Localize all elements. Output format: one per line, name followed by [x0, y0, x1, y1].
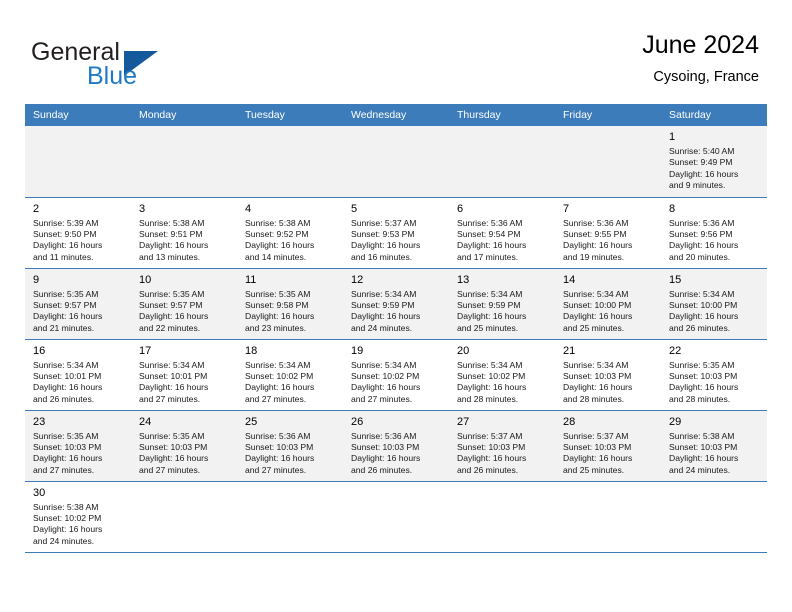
day-number: 21	[563, 344, 655, 358]
day-number: 25	[245, 415, 337, 429]
daylight-text-line2: and 27 minutes.	[351, 394, 443, 405]
day-number: 18	[245, 344, 337, 358]
calendar-header-row: Sunday Monday Tuesday Wednesday Thursday…	[25, 104, 767, 126]
sunset-text: Sunset: 10:03 PM	[245, 442, 337, 453]
day-cell-empty	[25, 126, 131, 197]
calendar-week-row: 23 Sunrise: 5:35 AM Sunset: 10:03 PM Day…	[25, 410, 767, 481]
daylight-text-line1: Daylight: 16 hours	[245, 382, 337, 393]
day-number: 7	[563, 202, 655, 216]
sunset-text: Sunset: 9:53 PM	[351, 229, 443, 240]
daylight-text-line2: and 26 minutes.	[669, 323, 761, 334]
daylight-text-line1: Daylight: 16 hours	[563, 453, 655, 464]
sunrise-text: Sunrise: 5:34 AM	[669, 289, 761, 300]
day-cell[interactable]: 21 Sunrise: 5:34 AM Sunset: 10:03 PM Day…	[555, 339, 661, 410]
sunrise-text: Sunrise: 5:40 AM	[669, 146, 761, 157]
sunrise-text: Sunrise: 5:34 AM	[457, 289, 549, 300]
daylight-text-line1: Daylight: 16 hours	[669, 240, 761, 251]
daylight-text-line1: Daylight: 16 hours	[457, 453, 549, 464]
day-number: 9	[33, 273, 125, 287]
calendar-grid: Sunday Monday Tuesday Wednesday Thursday…	[25, 104, 767, 553]
day-cell[interactable]: 6 Sunrise: 5:36 AM Sunset: 9:54 PM Dayli…	[449, 197, 555, 268]
sunrise-text: Sunrise: 5:34 AM	[139, 360, 231, 371]
daylight-text-line1: Daylight: 16 hours	[33, 382, 125, 393]
daylight-text-line1: Daylight: 16 hours	[669, 169, 761, 180]
sunset-text: Sunset: 9:56 PM	[669, 229, 761, 240]
daylight-text-line2: and 27 minutes.	[139, 465, 231, 476]
daylight-text-line1: Daylight: 16 hours	[457, 240, 549, 251]
day-number: 19	[351, 344, 443, 358]
daylight-text-line2: and 28 minutes.	[457, 394, 549, 405]
daylight-text-line1: Daylight: 16 hours	[669, 311, 761, 322]
daylight-text-line2: and 11 minutes.	[33, 252, 125, 263]
sunset-text: Sunset: 10:02 PM	[457, 371, 549, 382]
daylight-text-line2: and 16 minutes.	[351, 252, 443, 263]
daylight-text-line2: and 17 minutes.	[457, 252, 549, 263]
sunset-text: Sunset: 10:03 PM	[669, 371, 761, 382]
calendar-page: General Blue June 2024 Cysoing, France S…	[0, 0, 792, 612]
day-number: 11	[245, 273, 337, 287]
calendar-table: Sunday Monday Tuesday Wednesday Thursday…	[25, 104, 767, 553]
daylight-text-line2: and 22 minutes.	[139, 323, 231, 334]
day-number: 22	[669, 344, 761, 358]
daylight-text-line1: Daylight: 16 hours	[245, 240, 337, 251]
sunrise-text: Sunrise: 5:35 AM	[669, 360, 761, 371]
daylight-text-line2: and 21 minutes.	[33, 323, 125, 334]
daylight-text-line1: Daylight: 16 hours	[139, 453, 231, 464]
daylight-text-line1: Daylight: 16 hours	[351, 453, 443, 464]
title-block: June 2024 Cysoing, France	[642, 30, 759, 86]
sunrise-text: Sunrise: 5:36 AM	[351, 431, 443, 442]
daylight-text-line1: Daylight: 16 hours	[351, 311, 443, 322]
daylight-text-line2: and 26 minutes.	[33, 394, 125, 405]
day-cell[interactable]: 1 Sunrise: 5:40 AM Sunset: 9:49 PM Dayli…	[661, 126, 767, 197]
daylight-text-line1: Daylight: 16 hours	[33, 453, 125, 464]
weekday-header-monday: Monday	[131, 104, 237, 126]
day-cell-empty	[131, 481, 237, 552]
day-cell[interactable]: 12 Sunrise: 5:34 AM Sunset: 9:59 PM Dayl…	[343, 268, 449, 339]
day-number: 8	[669, 202, 761, 216]
weekday-header-thursday: Thursday	[449, 104, 555, 126]
daylight-text-line1: Daylight: 16 hours	[563, 311, 655, 322]
day-cell[interactable]: 10 Sunrise: 5:35 AM Sunset: 9:57 PM Dayl…	[131, 268, 237, 339]
weekday-header-saturday: Saturday	[661, 104, 767, 126]
weekday-header-sunday: Sunday	[25, 104, 131, 126]
daylight-text-line2: and 26 minutes.	[457, 465, 549, 476]
day-cell[interactable]: 8 Sunrise: 5:36 AM Sunset: 9:56 PM Dayli…	[661, 197, 767, 268]
day-cell-empty	[555, 126, 661, 197]
daylight-text-line1: Daylight: 16 hours	[33, 311, 125, 322]
sunset-text: Sunset: 9:49 PM	[669, 157, 761, 168]
sunrise-text: Sunrise: 5:36 AM	[669, 218, 761, 229]
day-cell[interactable]: 13 Sunrise: 5:34 AM Sunset: 9:59 PM Dayl…	[449, 268, 555, 339]
daylight-text-line1: Daylight: 16 hours	[669, 453, 761, 464]
day-number: 5	[351, 202, 443, 216]
calendar-body: 1 Sunrise: 5:40 AM Sunset: 9:49 PM Dayli…	[25, 126, 767, 552]
sunset-text: Sunset: 10:03 PM	[33, 442, 125, 453]
day-cell[interactable]: 3 Sunrise: 5:38 AM Sunset: 9:51 PM Dayli…	[131, 197, 237, 268]
sunrise-text: Sunrise: 5:37 AM	[351, 218, 443, 229]
calendar-week-row: 2 Sunrise: 5:39 AM Sunset: 9:50 PM Dayli…	[25, 197, 767, 268]
daylight-text-line2: and 23 minutes.	[245, 323, 337, 334]
day-cell[interactable]: 2 Sunrise: 5:39 AM Sunset: 9:50 PM Dayli…	[25, 197, 131, 268]
sunrise-text: Sunrise: 5:35 AM	[33, 431, 125, 442]
daylight-text-line1: Daylight: 16 hours	[245, 453, 337, 464]
sunset-text: Sunset: 10:03 PM	[563, 371, 655, 382]
calendar-week-row: 30 Sunrise: 5:38 AM Sunset: 10:02 PM Day…	[25, 481, 767, 552]
day-cell[interactable]: 26 Sunrise: 5:36 AM Sunset: 10:03 PM Day…	[343, 410, 449, 481]
daylight-text-line1: Daylight: 16 hours	[139, 240, 231, 251]
day-number: 30	[33, 486, 125, 500]
daylight-text-line2: and 19 minutes.	[563, 252, 655, 263]
day-cell[interactable]: 19 Sunrise: 5:34 AM Sunset: 10:02 PM Day…	[343, 339, 449, 410]
sunrise-text: Sunrise: 5:35 AM	[139, 431, 231, 442]
sunrise-text: Sunrise: 5:38 AM	[245, 218, 337, 229]
day-cell[interactable]: 23 Sunrise: 5:35 AM Sunset: 10:03 PM Day…	[25, 410, 131, 481]
day-number: 2	[33, 202, 125, 216]
daylight-text-line1: Daylight: 16 hours	[563, 382, 655, 393]
day-number: 29	[669, 415, 761, 429]
daylight-text-line2: and 27 minutes.	[245, 394, 337, 405]
daylight-text-line2: and 24 minutes.	[351, 323, 443, 334]
daylight-text-line2: and 24 minutes.	[33, 536, 125, 547]
sunrise-text: Sunrise: 5:34 AM	[245, 360, 337, 371]
day-cell[interactable]: 30 Sunrise: 5:38 AM Sunset: 10:02 PM Day…	[25, 481, 131, 552]
sunrise-text: Sunrise: 5:36 AM	[563, 218, 655, 229]
day-number: 28	[563, 415, 655, 429]
weekday-header-friday: Friday	[555, 104, 661, 126]
day-number: 10	[139, 273, 231, 287]
daylight-text-line2: and 28 minutes.	[563, 394, 655, 405]
sunset-text: Sunset: 9:59 PM	[351, 300, 443, 311]
sunset-text: Sunset: 9:51 PM	[139, 229, 231, 240]
sunrise-text: Sunrise: 5:36 AM	[457, 218, 549, 229]
sunset-text: Sunset: 10:03 PM	[139, 442, 231, 453]
sunset-text: Sunset: 10:03 PM	[351, 442, 443, 453]
day-cell-empty	[555, 481, 661, 552]
day-number: 27	[457, 415, 549, 429]
daylight-text-line1: Daylight: 16 hours	[245, 311, 337, 322]
calendar-week-row: 1 Sunrise: 5:40 AM Sunset: 9:49 PM Dayli…	[25, 126, 767, 197]
day-cell[interactable]: 25 Sunrise: 5:36 AM Sunset: 10:03 PM Day…	[237, 410, 343, 481]
sunrise-text: Sunrise: 5:35 AM	[33, 289, 125, 300]
sunrise-text: Sunrise: 5:36 AM	[245, 431, 337, 442]
daylight-text-line1: Daylight: 16 hours	[351, 382, 443, 393]
daylight-text-line1: Daylight: 16 hours	[33, 240, 125, 251]
day-number: 1	[669, 130, 761, 144]
sunrise-text: Sunrise: 5:39 AM	[33, 218, 125, 229]
page-subtitle: Cysoing, France	[642, 68, 759, 86]
daylight-text-line1: Daylight: 16 hours	[457, 311, 549, 322]
day-number: 14	[563, 273, 655, 287]
day-cell[interactable]: 27 Sunrise: 5:37 AM Sunset: 10:03 PM Day…	[449, 410, 555, 481]
day-cell[interactable]: 5 Sunrise: 5:37 AM Sunset: 9:53 PM Dayli…	[343, 197, 449, 268]
day-cell[interactable]: 22 Sunrise: 5:35 AM Sunset: 10:03 PM Day…	[661, 339, 767, 410]
day-number: 6	[457, 202, 549, 216]
day-cell[interactable]: 18 Sunrise: 5:34 AM Sunset: 10:02 PM Day…	[237, 339, 343, 410]
page-header: General Blue June 2024 Cysoing, France	[0, 0, 792, 103]
day-cell[interactable]: 15 Sunrise: 5:34 AM Sunset: 10:00 PM Day…	[661, 268, 767, 339]
sunset-text: Sunset: 9:55 PM	[563, 229, 655, 240]
sunset-text: Sunset: 10:03 PM	[563, 442, 655, 453]
sunset-text: Sunset: 9:58 PM	[245, 300, 337, 311]
calendar-week-row: 9 Sunrise: 5:35 AM Sunset: 9:57 PM Dayli…	[25, 268, 767, 339]
page-title: June 2024	[642, 30, 759, 60]
daylight-text-line2: and 9 minutes.	[669, 180, 761, 191]
weekday-header-tuesday: Tuesday	[237, 104, 343, 126]
day-cell-empty	[449, 126, 555, 197]
day-cell-empty	[237, 126, 343, 197]
daylight-text-line1: Daylight: 16 hours	[33, 524, 125, 535]
day-number: 13	[457, 273, 549, 287]
daylight-text-line1: Daylight: 16 hours	[563, 240, 655, 251]
day-number: 3	[139, 202, 231, 216]
day-number: 20	[457, 344, 549, 358]
day-number: 16	[33, 344, 125, 358]
sunset-text: Sunset: 10:02 PM	[33, 513, 125, 524]
day-cell-empty	[131, 126, 237, 197]
sunset-text: Sunset: 9:57 PM	[139, 300, 231, 311]
day-cell[interactable]: 14 Sunrise: 5:34 AM Sunset: 10:00 PM Day…	[555, 268, 661, 339]
day-number: 26	[351, 415, 443, 429]
brand-logo[interactable]: General Blue	[31, 38, 261, 94]
day-cell[interactable]: 16 Sunrise: 5:34 AM Sunset: 10:01 PM Day…	[25, 339, 131, 410]
sunrise-text: Sunrise: 5:38 AM	[33, 502, 125, 513]
weekday-header-wednesday: Wednesday	[343, 104, 449, 126]
sunset-text: Sunset: 9:59 PM	[457, 300, 549, 311]
day-cell-empty	[343, 481, 449, 552]
day-number: 4	[245, 202, 337, 216]
day-cell[interactable]: 29 Sunrise: 5:38 AM Sunset: 10:03 PM Day…	[661, 410, 767, 481]
day-cell[interactable]: 17 Sunrise: 5:34 AM Sunset: 10:01 PM Day…	[131, 339, 237, 410]
day-cell-empty	[661, 481, 767, 552]
daylight-text-line2: and 14 minutes.	[245, 252, 337, 263]
sunrise-text: Sunrise: 5:34 AM	[563, 360, 655, 371]
day-cell[interactable]: 28 Sunrise: 5:37 AM Sunset: 10:03 PM Day…	[555, 410, 661, 481]
day-number: 17	[139, 344, 231, 358]
day-number: 12	[351, 273, 443, 287]
day-cell[interactable]: 9 Sunrise: 5:35 AM Sunset: 9:57 PM Dayli…	[25, 268, 131, 339]
sunrise-text: Sunrise: 5:34 AM	[563, 289, 655, 300]
sunrise-text: Sunrise: 5:38 AM	[139, 218, 231, 229]
daylight-text-line2: and 26 minutes.	[351, 465, 443, 476]
day-number: 15	[669, 273, 761, 287]
sunrise-text: Sunrise: 5:34 AM	[351, 360, 443, 371]
daylight-text-line2: and 27 minutes.	[33, 465, 125, 476]
sunrise-text: Sunrise: 5:35 AM	[139, 289, 231, 300]
daylight-text-line2: and 24 minutes.	[669, 465, 761, 476]
sunrise-text: Sunrise: 5:34 AM	[33, 360, 125, 371]
sunset-text: Sunset: 10:01 PM	[139, 371, 231, 382]
sunset-text: Sunset: 9:50 PM	[33, 229, 125, 240]
sunrise-text: Sunrise: 5:38 AM	[669, 431, 761, 442]
daylight-text-line1: Daylight: 16 hours	[669, 382, 761, 393]
day-cell[interactable]: 11 Sunrise: 5:35 AM Sunset: 9:58 PM Dayl…	[237, 268, 343, 339]
day-number: 23	[33, 415, 125, 429]
daylight-text-line2: and 27 minutes.	[245, 465, 337, 476]
sunrise-text: Sunrise: 5:35 AM	[245, 289, 337, 300]
day-cell-empty	[449, 481, 555, 552]
sunset-text: Sunset: 10:02 PM	[245, 371, 337, 382]
sunset-text: Sunset: 10:01 PM	[33, 371, 125, 382]
daylight-text-line1: Daylight: 16 hours	[351, 240, 443, 251]
daylight-text-line2: and 20 minutes.	[669, 252, 761, 263]
day-cell[interactable]: 24 Sunrise: 5:35 AM Sunset: 10:03 PM Day…	[131, 410, 237, 481]
brand-name-blue: Blue	[87, 62, 137, 90]
daylight-text-line2: and 25 minutes.	[457, 323, 549, 334]
sunset-text: Sunset: 10:03 PM	[457, 442, 549, 453]
day-cell-empty	[237, 481, 343, 552]
daylight-text-line1: Daylight: 16 hours	[457, 382, 549, 393]
daylight-text-line1: Daylight: 16 hours	[139, 382, 231, 393]
day-cell-empty	[343, 126, 449, 197]
sunset-text: Sunset: 10:02 PM	[351, 371, 443, 382]
sunrise-text: Sunrise: 5:34 AM	[457, 360, 549, 371]
daylight-text-line2: and 27 minutes.	[139, 394, 231, 405]
sunrise-text: Sunrise: 5:37 AM	[563, 431, 655, 442]
daylight-text-line2: and 28 minutes.	[669, 394, 761, 405]
sunset-text: Sunset: 9:54 PM	[457, 229, 549, 240]
sunset-text: Sunset: 10:00 PM	[563, 300, 655, 311]
daylight-text-line2: and 25 minutes.	[563, 323, 655, 334]
day-cell[interactable]: 4 Sunrise: 5:38 AM Sunset: 9:52 PM Dayli…	[237, 197, 343, 268]
sunrise-text: Sunrise: 5:34 AM	[351, 289, 443, 300]
day-cell[interactable]: 20 Sunrise: 5:34 AM Sunset: 10:02 PM Day…	[449, 339, 555, 410]
daylight-text-line2: and 13 minutes.	[139, 252, 231, 263]
daylight-text-line1: Daylight: 16 hours	[139, 311, 231, 322]
day-cell[interactable]: 7 Sunrise: 5:36 AM Sunset: 9:55 PM Dayli…	[555, 197, 661, 268]
sunset-text: Sunset: 9:52 PM	[245, 229, 337, 240]
sunset-text: Sunset: 10:00 PM	[669, 300, 761, 311]
day-number: 24	[139, 415, 231, 429]
sunset-text: Sunset: 9:57 PM	[33, 300, 125, 311]
sunrise-text: Sunrise: 5:37 AM	[457, 431, 549, 442]
calendar-week-row: 16 Sunrise: 5:34 AM Sunset: 10:01 PM Day…	[25, 339, 767, 410]
sunset-text: Sunset: 10:03 PM	[669, 442, 761, 453]
daylight-text-line2: and 25 minutes.	[563, 465, 655, 476]
